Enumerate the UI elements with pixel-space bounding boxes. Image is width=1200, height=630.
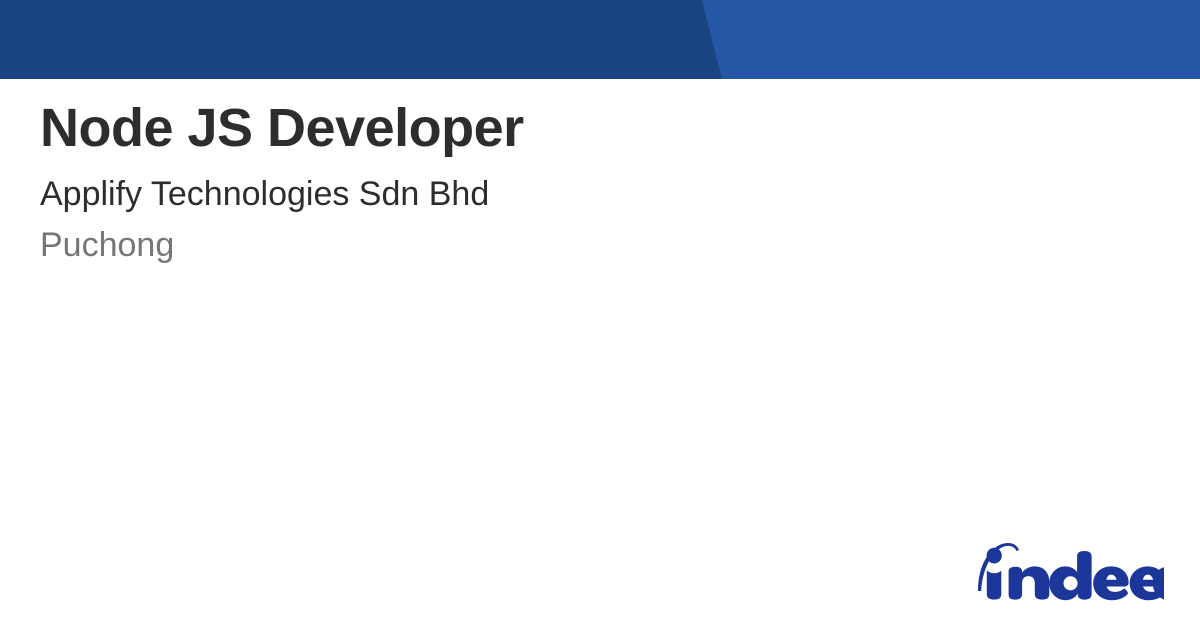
job-summary: Node JS Developer Applify Technologies S… xyxy=(40,100,1100,266)
banner-dark-panel xyxy=(0,0,740,79)
company-name: Applify Technologies Sdn Bhd xyxy=(40,174,1100,215)
job-share-card: Node JS Developer Applify Technologies S… xyxy=(0,0,1200,630)
page-title: Node JS Developer xyxy=(40,100,1100,157)
top-banner xyxy=(0,0,1200,79)
indeed-logo xyxy=(972,538,1164,602)
job-location: Puchong xyxy=(40,225,1100,266)
